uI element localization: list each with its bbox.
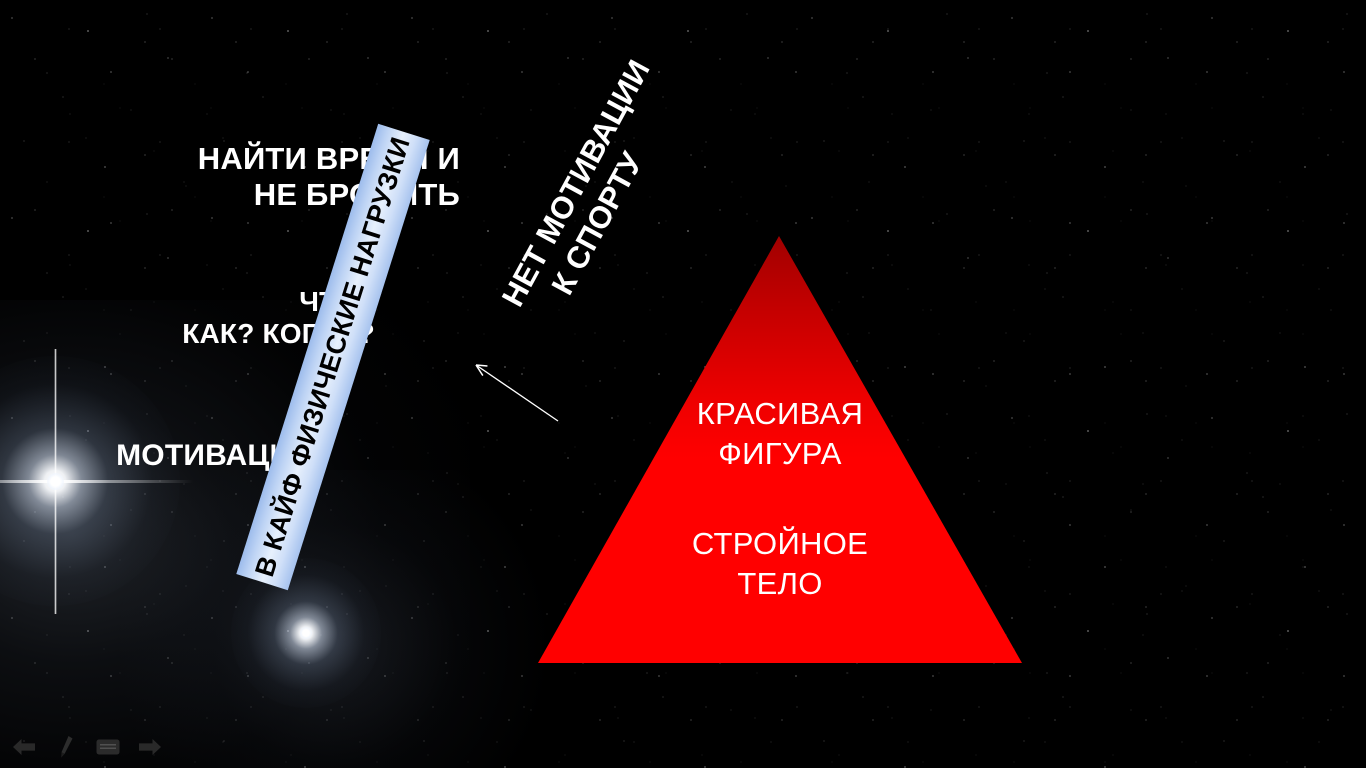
slideshow-toolbar[interactable]	[0, 726, 190, 768]
next-slide-button[interactable]	[136, 735, 164, 759]
star-halo	[231, 558, 381, 708]
presentation-slide: НАЙТИ ВРЕМЯ И НЕ БРОСИТЬ ЧТО? КАК? КОГДА…	[0, 0, 1366, 768]
pen-tool-button[interactable]	[52, 735, 80, 759]
nebula-glow-center	[120, 470, 550, 768]
star-spike-horizontal	[0, 480, 193, 483]
star-halo	[0, 356, 180, 606]
triangle-text-bottom: СТРОЙНОЕ ТЕЛО	[536, 524, 1024, 603]
star-spike-vertical	[54, 349, 57, 614]
slide-menu-button[interactable]	[94, 735, 122, 759]
pen-icon	[58, 735, 74, 759]
triangle-text-top: КРАСИВАЯ ФИГУРА	[536, 394, 1024, 473]
star-core	[47, 473, 64, 490]
screen-icon	[95, 737, 121, 757]
previous-slide-button[interactable]	[10, 735, 38, 759]
right-arrow-icon	[137, 737, 163, 757]
red-triangle-shape: КРАСИВАЯ ФИГУРА СТРОЙНОЕ ТЕЛО	[536, 234, 1024, 665]
star-core	[300, 627, 312, 639]
nebula-glow-left	[0, 300, 470, 768]
left-arrow-icon	[11, 737, 37, 757]
